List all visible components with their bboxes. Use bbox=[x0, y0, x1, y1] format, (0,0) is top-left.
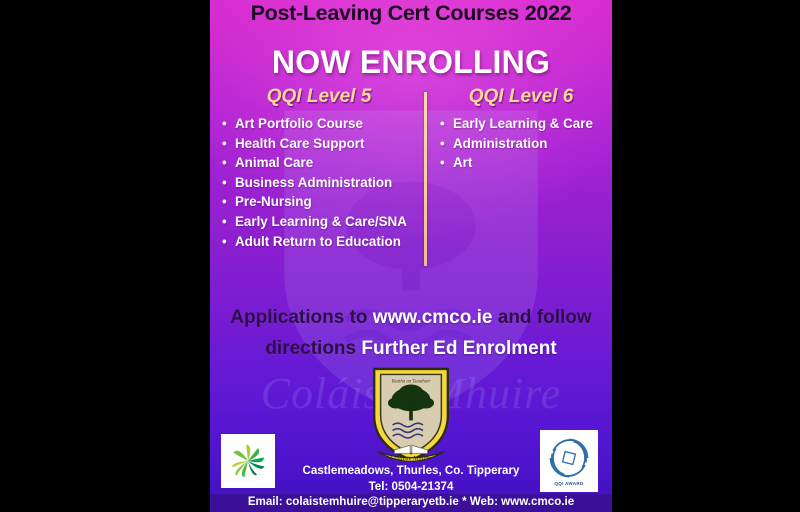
applications-prefix: Applications to bbox=[230, 307, 373, 328]
column-divider bbox=[424, 92, 427, 266]
list-item: Administration bbox=[440, 134, 610, 154]
list-item: Animal Care bbox=[222, 153, 424, 173]
list-item: Adult Return to Education bbox=[222, 232, 424, 252]
footer-phone-line: Tel: 0504-21374 bbox=[270, 479, 552, 495]
list-item: Health Care Support bbox=[222, 134, 424, 154]
footer-email-line: Email: colaistemhuire@tipperaryetb.ie * … bbox=[210, 495, 612, 508]
list-item: Early Learning & Care/SNA bbox=[222, 212, 424, 232]
applications-suffix: and follow bbox=[492, 307, 591, 328]
letterbox-bar-left bbox=[0, 0, 210, 512]
list-item: Art Portfolio Course bbox=[222, 114, 424, 134]
svg-text:Coláiste Mhuire: Coláiste Mhuire bbox=[390, 455, 432, 462]
svg-text:Beatha an Tsaothair: Beatha an Tsaothair bbox=[392, 380, 431, 385]
course-column-level-6: QQI Level 6 Early Learning & Care Admini… bbox=[432, 86, 610, 173]
list-item: Early Learning & Care bbox=[440, 114, 610, 134]
school-crest-logo: Beatha an Tsaothair Cr bbox=[365, 362, 457, 466]
footer-contact-block: Castlemeadows, Thurles, Co. Tipperary Te… bbox=[270, 463, 552, 495]
now-enrolling-headline: NOW ENROLLING bbox=[210, 44, 612, 81]
svg-text:Ed: Ed bbox=[432, 446, 439, 451]
plc-course-poster: Coláiste Mhuire Post-Leaving Cert Course… bbox=[210, 0, 612, 512]
list-item: Pre-Nursing bbox=[222, 192, 424, 212]
list-item: Business Administration bbox=[222, 173, 424, 193]
course-column-level-5: QQI Level 5 Art Portfolio Course Health … bbox=[214, 86, 424, 251]
page-title: Post-Leaving Cert Courses 2022 bbox=[210, 1, 612, 26]
course-list-level-6: Early Learning & Care Administration Art bbox=[432, 114, 610, 173]
letterbox-bar-right bbox=[612, 0, 800, 512]
column-heading-level-6: QQI Level 6 bbox=[432, 86, 610, 108]
applications-instructions: Applications to www.cmco.ie and follow d… bbox=[212, 302, 610, 364]
column-heading-level-5: QQI Level 5 bbox=[214, 86, 424, 108]
qqi-logo-caption: QQI AWARD bbox=[554, 481, 583, 486]
footer-address-line: Castlemeadows, Thurles, Co. Tipperary bbox=[270, 463, 552, 479]
list-item: Art bbox=[440, 153, 610, 173]
screenshot-stage: Coláiste Mhuire Post-Leaving Cert Course… bbox=[0, 0, 800, 512]
course-list-level-5: Art Portfolio Course Health Care Support… bbox=[214, 114, 424, 251]
etb-logo bbox=[221, 434, 275, 488]
svg-text:Cr: Cr bbox=[384, 446, 389, 451]
applications-website: www.cmco.ie bbox=[373, 307, 493, 328]
applications-directions-label: directions bbox=[265, 338, 361, 359]
applications-directions-target: Further Ed Enrolment bbox=[361, 338, 556, 359]
